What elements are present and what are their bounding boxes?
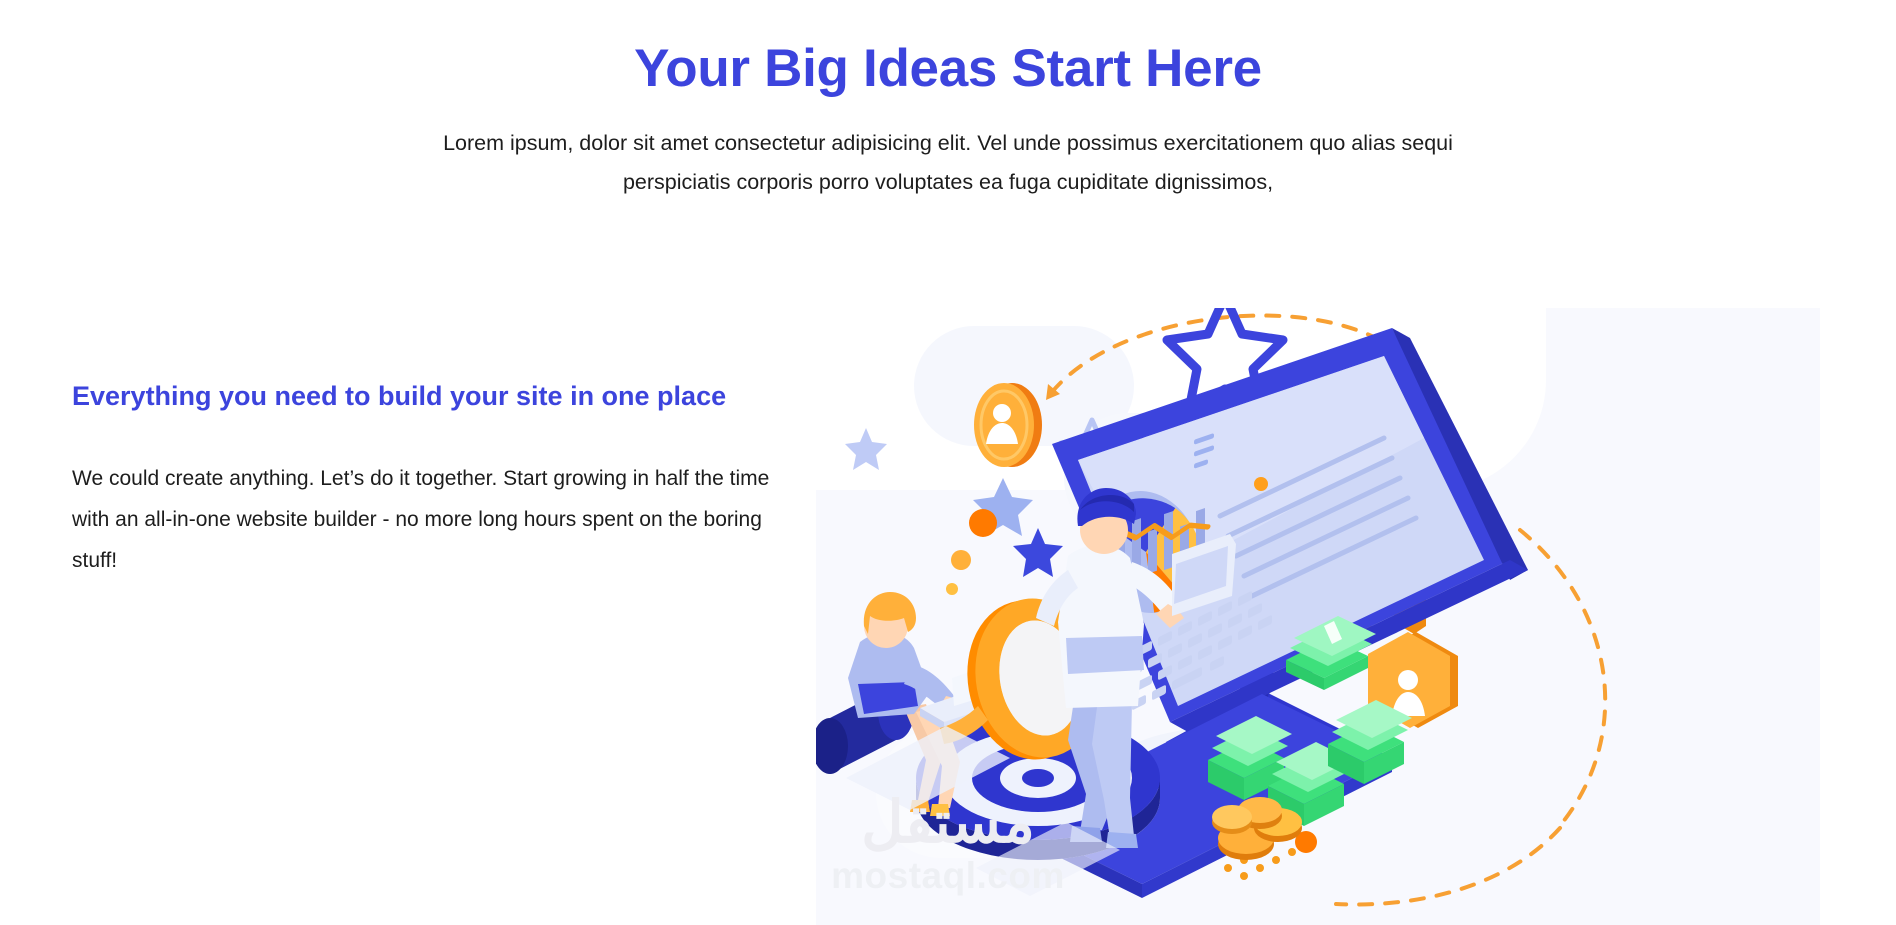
watermark-latin: mostaql.com — [818, 854, 1078, 898]
star-filled-dark-2 — [1013, 528, 1063, 577]
feature-text-column: Everything you need to build your site i… — [72, 375, 784, 581]
watermark: مستقل mostaql.com — [818, 792, 1078, 898]
man-hoodie-shade — [1066, 636, 1144, 674]
hero-section: Your Big Ideas Start Here Lorem ipsum, d… — [0, 0, 1896, 202]
page-title: Your Big Ideas Start Here — [0, 38, 1896, 100]
feature-body-text: We could create anything. Let’s do it to… — [72, 458, 802, 581]
hero-subtitle: Lorem ipsum, dolor sit amet consectetur … — [403, 124, 1493, 202]
feature-heading: Everything you need to build your site i… — [72, 375, 772, 418]
orange-dots-group — [946, 509, 997, 595]
page-root: Your Big Ideas Start Here Lorem ipsum, d… — [0, 0, 1896, 925]
monitor-webcam-dot — [1254, 477, 1268, 491]
star-tiny-left — [845, 428, 887, 470]
user-coin-badge — [974, 383, 1042, 467]
watermark-arabic: مستقل — [818, 792, 1078, 854]
